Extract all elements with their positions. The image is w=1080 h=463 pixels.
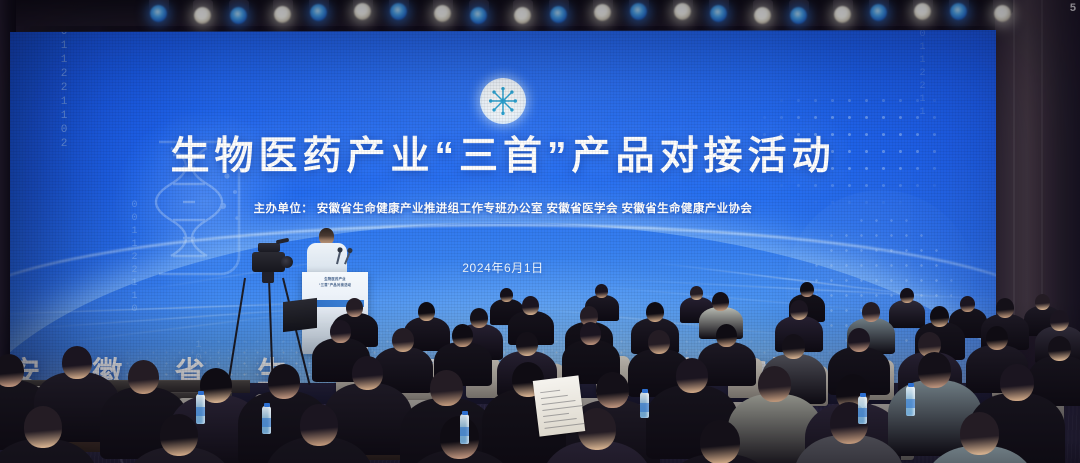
stage-light-blue: [710, 5, 727, 22]
audience-member-head: [676, 358, 708, 393]
audience-member-head: [712, 292, 729, 311]
audience-member-head: [1000, 364, 1034, 401]
audience-member-head: [900, 288, 914, 303]
audience-member-head: [128, 360, 159, 394]
audience-member-head: [1035, 294, 1050, 310]
audience-member-head: [758, 366, 791, 402]
audience-member-head: [452, 324, 473, 347]
audience-member-head: [595, 284, 608, 298]
audience-member-head: [996, 298, 1014, 318]
audience-group: [0, 236, 1080, 463]
handout-text-line: [543, 413, 569, 417]
stage-light-blue: [310, 4, 327, 21]
audience-member-head: [918, 352, 951, 388]
audience-member-head: [648, 330, 670, 354]
audience-member-head: [522, 296, 539, 315]
audience-member-head: [160, 414, 198, 456]
stage-light-white: [994, 5, 1011, 22]
event-organizers: 主办单位： 安徽省生命健康产业推进组工作专班办公室 安徽省医学会 安徽省生命健康…: [10, 200, 996, 216]
bottle-cap: [860, 393, 866, 397]
audience-member-head: [960, 412, 999, 455]
handout-text-line: [541, 395, 568, 399]
stage-light-blue: [870, 4, 887, 21]
audience-member-head: [790, 300, 808, 320]
event-title: 生物医药产业“三首”产品对接活动: [10, 125, 996, 181]
audience-member-head: [430, 370, 463, 406]
stage-light-blue: [790, 7, 807, 24]
bottle-label: [460, 427, 469, 436]
bottle-label: [906, 399, 915, 408]
audience-member-head: [862, 302, 880, 322]
stage-light-blue: [950, 3, 967, 20]
bottle-cap: [198, 391, 204, 395]
audience-member-head: [516, 332, 538, 356]
audience-member-head: [580, 322, 601, 345]
stage-light-white: [754, 7, 771, 24]
audience-member-head: [418, 302, 435, 321]
audience-member-head: [960, 296, 975, 312]
audience-member-head: [1050, 310, 1069, 331]
stage-light-white: [354, 3, 371, 20]
audience-member-head: [716, 324, 737, 347]
handout-text-line: [542, 405, 583, 411]
audience-member-head: [986, 326, 1008, 350]
stage-light-white: [914, 3, 931, 20]
audience-member-head: [690, 286, 703, 300]
audience-member-head: [596, 372, 629, 408]
stage-light-white: [834, 6, 851, 23]
audience-member-head: [848, 328, 870, 352]
conference-photo-scene: 0011221102 001122110 1001121 00112211: [0, 0, 1080, 463]
audience-member-head: [268, 364, 300, 399]
bottle-cap: [642, 389, 648, 393]
bottle-label: [858, 408, 867, 417]
bottle-cap: [908, 383, 914, 387]
stage-light-white: [594, 4, 611, 21]
handout-text-line: [540, 390, 560, 393]
stage-light-white: [194, 7, 211, 24]
audience-member-head: [392, 328, 414, 352]
stage-light-blue: [150, 5, 167, 22]
bottle-cap: [264, 403, 270, 407]
audience-member-head: [330, 320, 351, 343]
stage-light-blue: [230, 7, 247, 24]
audience-member-head: [782, 334, 805, 359]
audience-member-head: [1048, 336, 1071, 361]
audience-member-head: [800, 282, 814, 297]
audience-member-head: [352, 356, 383, 390]
audience-member-head: [500, 288, 513, 302]
bottle-cap: [462, 411, 468, 415]
audience-member-head: [346, 298, 363, 317]
stage-light-blue: [550, 6, 567, 23]
printed-handout: [533, 375, 585, 436]
audience-member-head: [646, 302, 664, 322]
radial-molecule-logo-icon: [480, 78, 526, 124]
binary-decor-right-upper: 00112211: [916, 30, 928, 120]
bottle-label: [640, 403, 649, 412]
audience-member-head: [470, 308, 488, 328]
audience-member-head: [0, 354, 24, 387]
audience-member-head: [930, 306, 949, 327]
bottle-label: [262, 418, 271, 427]
stage-light-white: [274, 6, 291, 23]
audience-member-head: [700, 420, 740, 463]
bottle-label: [196, 407, 205, 416]
stage-light-white: [514, 7, 531, 24]
stage-light-blue: [630, 3, 647, 20]
stage-light-white: [434, 5, 451, 22]
corner-watermark: 5: [1070, 2, 1076, 14]
audience-member-head: [62, 346, 92, 379]
audience-member-head: [24, 406, 62, 448]
handout-text-line: [545, 423, 585, 429]
stage-light-blue: [470, 7, 487, 24]
audience-member-torso: [889, 300, 925, 328]
stage-light-white: [674, 3, 691, 20]
stage-light-blue: [390, 3, 407, 20]
audience-member-head: [300, 404, 338, 446]
handout-text-line: [542, 400, 576, 405]
handout-text-line: [544, 418, 577, 423]
